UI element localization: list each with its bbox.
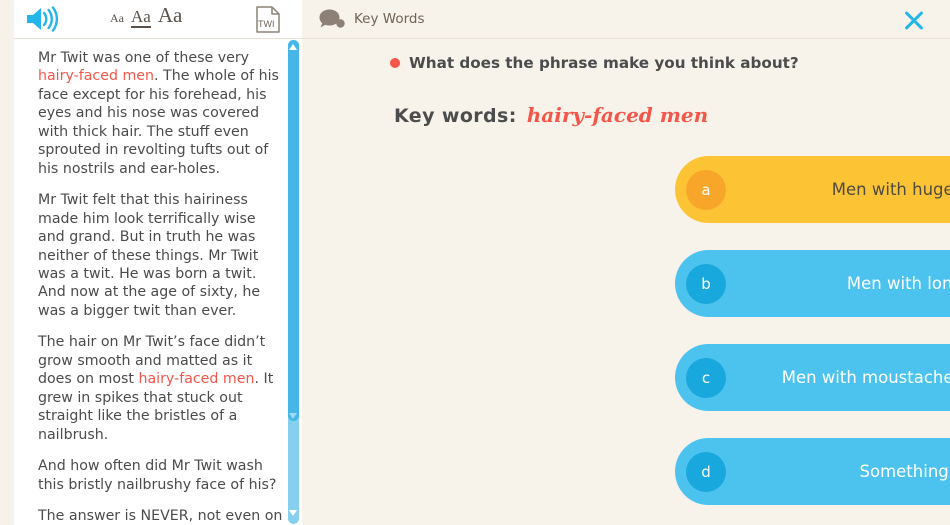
answer-option-a[interactable]: a Men with huge beards [675,156,950,223]
speaker-sound-icon[interactable] [22,4,62,34]
answer-option-c[interactable]: c Men with moustaches AND beards [675,344,950,411]
story-text-segment: The answer is NEVER, not even on Sundays… [38,508,282,525]
keywords-row: Key words: hairy-faced men [394,103,708,127]
document-twi-icon[interactable]: TWI [255,6,281,33]
speaker-icon-svg [25,6,59,32]
speech-bubble-icon-svg [318,8,346,32]
answer-option-b[interactable]: b Men with long hair [675,250,950,317]
speech-bubble-icon [318,8,346,32]
font-size-medium-button[interactable]: Aa [131,8,151,28]
document-icon-svg: TWI [255,6,281,33]
reader-pane: Aa Aa Aa TWI Mr Twit was one of these ve… [0,0,302,525]
story-text-segment: Mr Twit was one of these very [38,50,249,66]
story-paragraph: Mr Twit was one of these very hairy-face… [38,49,283,178]
keywords-phrase: hairy-faced men [527,103,708,127]
answer-option-d[interactable]: d Something else [675,438,950,505]
keywords-label: Key words: [394,105,517,127]
option-badge-c: c [686,358,726,398]
font-size-controls: Aa Aa Aa [110,5,182,28]
activity-title: Key Words [354,11,425,27]
scroll-down-arrow-icon[interactable] [289,510,297,516]
reading-activity-screen: Aa Aa Aa TWI Mr Twit was one of these ve… [0,0,950,525]
activity-pane: Key Words What does the phrase make you … [302,0,950,525]
font-size-large-button[interactable]: Aa [158,5,183,26]
story-paragraph: And how often did Mr Twit wash this bris… [38,457,283,494]
font-size-small-button[interactable]: Aa [110,12,124,24]
question-text: What does the phrase make you think abou… [409,54,799,72]
story-text-segment: . The whole of his face except for his f… [38,68,279,176]
story-text-segment: And how often did Mr Twit wash this bris… [38,458,276,492]
scroll-up-arrow-icon[interactable] [289,44,297,50]
option-badge-b: b [686,264,726,304]
story-text-segment: Mr Twit felt that this hairiness made hi… [38,192,260,319]
story-paragraph: Mr Twit felt that this hairiness made hi… [38,191,283,320]
question-bullet-icon [390,58,400,68]
option-badge-d: d [686,452,726,492]
reader-text-body: Mr Twit was one of these very hairy-face… [14,39,302,525]
document-icon-text: TWI [258,19,275,29]
reader-scrollbar[interactable] [286,40,300,524]
option-badge-a: a [686,170,726,210]
question-row: What does the phrase make you think abou… [390,54,799,72]
close-icon[interactable] [900,6,928,34]
scrollbar-thumb[interactable] [288,40,299,421]
keyword-highlight: hairy-faced men [38,68,154,84]
story-text: Mr Twit was one of these very hairy-face… [38,49,283,525]
story-paragraph: The answer is NEVER, not even on Sundays… [38,507,283,525]
keyword-highlight: hairy-faced men [138,371,254,387]
scroll-thumb-arrow-icon[interactable] [289,413,297,419]
story-paragraph: The hair on Mr Twit’s face didn’t grow s… [38,333,283,444]
